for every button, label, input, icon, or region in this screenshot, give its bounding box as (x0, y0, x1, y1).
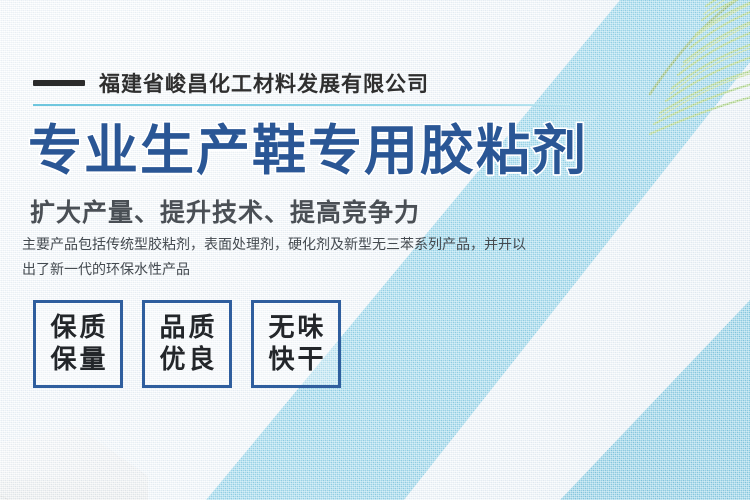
company-row: 福建省峻昌化工材料发展有限公司 (33, 68, 429, 98)
horizontal-rule (33, 104, 570, 106)
company-name: 福建省峻昌化工材料发展有限公司 (99, 68, 429, 98)
feature-line: 优良 (156, 344, 217, 376)
feature-box-1: 保质 保量 (33, 300, 123, 388)
feature-line: 快干 (265, 344, 326, 376)
feature-line: 保质 (47, 312, 108, 344)
feature-line: 品质 (156, 312, 217, 344)
feature-line: 保量 (47, 344, 108, 376)
page-title: 专业生产鞋专用胶粘剂 (28, 122, 588, 180)
feature-box-3: 无味 快干 (251, 300, 341, 388)
description-text: 主要产品包括传统型胶粘剂，表面处理剂，硬化剂及新型无三苯系列产品，并开以出了新一… (22, 233, 538, 283)
dash-icon (33, 80, 85, 86)
subheadline: 扩大产量、提升技术、提高竞争力 (30, 193, 420, 229)
feature-box-group: 保质 保量 品质 优良 无味 快干 (33, 300, 341, 388)
feature-line: 无味 (265, 312, 326, 344)
promo-banner: 福建省峻昌化工材料发展有限公司 专业生产鞋专用胶粘剂 扩大产量、提升技术、提高竞… (0, 0, 750, 500)
feature-box-2: 品质 优良 (142, 300, 232, 388)
